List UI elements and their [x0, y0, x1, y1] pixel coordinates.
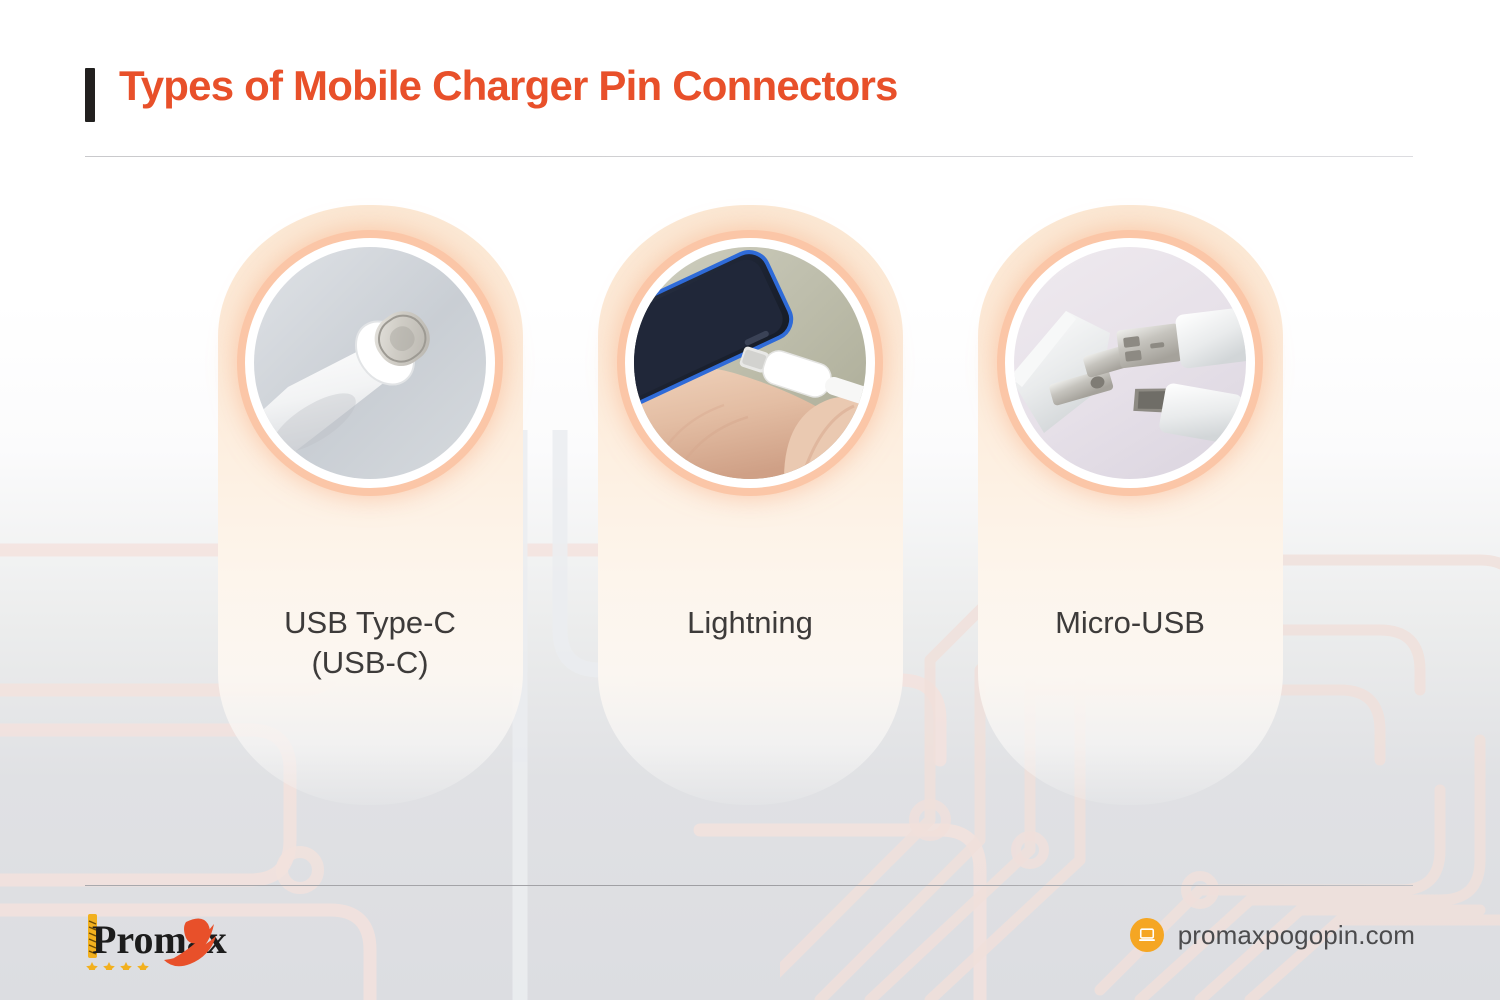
photo-ring: [634, 247, 866, 479]
usb-type-c-connector-photo: [254, 247, 486, 479]
website-url-text: promaxpogopin.com: [1178, 920, 1415, 951]
photo-ring: [254, 247, 486, 479]
photo-ring: [1014, 247, 1246, 479]
website-link[interactable]: promaxpogopin.com: [1130, 918, 1415, 952]
micro-usb-connector-photo: [1014, 247, 1246, 479]
logo-stars: [86, 962, 149, 970]
page-title: Types of Mobile Charger Pin Connectors: [119, 60, 1415, 113]
connector-label: Micro-USB: [978, 603, 1283, 643]
connector-card-lightning[interactable]: Lightning: [598, 205, 903, 805]
connector-card-usb-type-c[interactable]: USB Type-C (USB-C): [218, 205, 523, 805]
lightning-connector-photo: [634, 247, 866, 479]
connector-label-line1: Micro-USB: [978, 603, 1283, 643]
page-header: Types of Mobile Charger Pin Connectors: [85, 60, 1415, 113]
connector-card-list: USB Type-C (USB-C): [0, 205, 1500, 815]
connector-label-line2: (USB-C): [218, 643, 523, 683]
connector-card-micro-usb[interactable]: Micro-USB: [978, 205, 1283, 805]
header-divider: [85, 156, 1413, 157]
footer-divider: [85, 885, 1413, 886]
promax-logo[interactable]: Promax: [82, 908, 242, 970]
infographic-page: Types of Mobile Charger Pin Connectors: [0, 0, 1500, 1000]
connector-label-line1: USB Type-C: [218, 603, 523, 643]
laptop-icon: [1130, 918, 1164, 952]
connector-label-line1: Lightning: [598, 603, 903, 643]
connector-label: USB Type-C (USB-C): [218, 603, 523, 682]
connector-label: Lightning: [598, 603, 903, 643]
title-accent-bar: [85, 68, 95, 122]
